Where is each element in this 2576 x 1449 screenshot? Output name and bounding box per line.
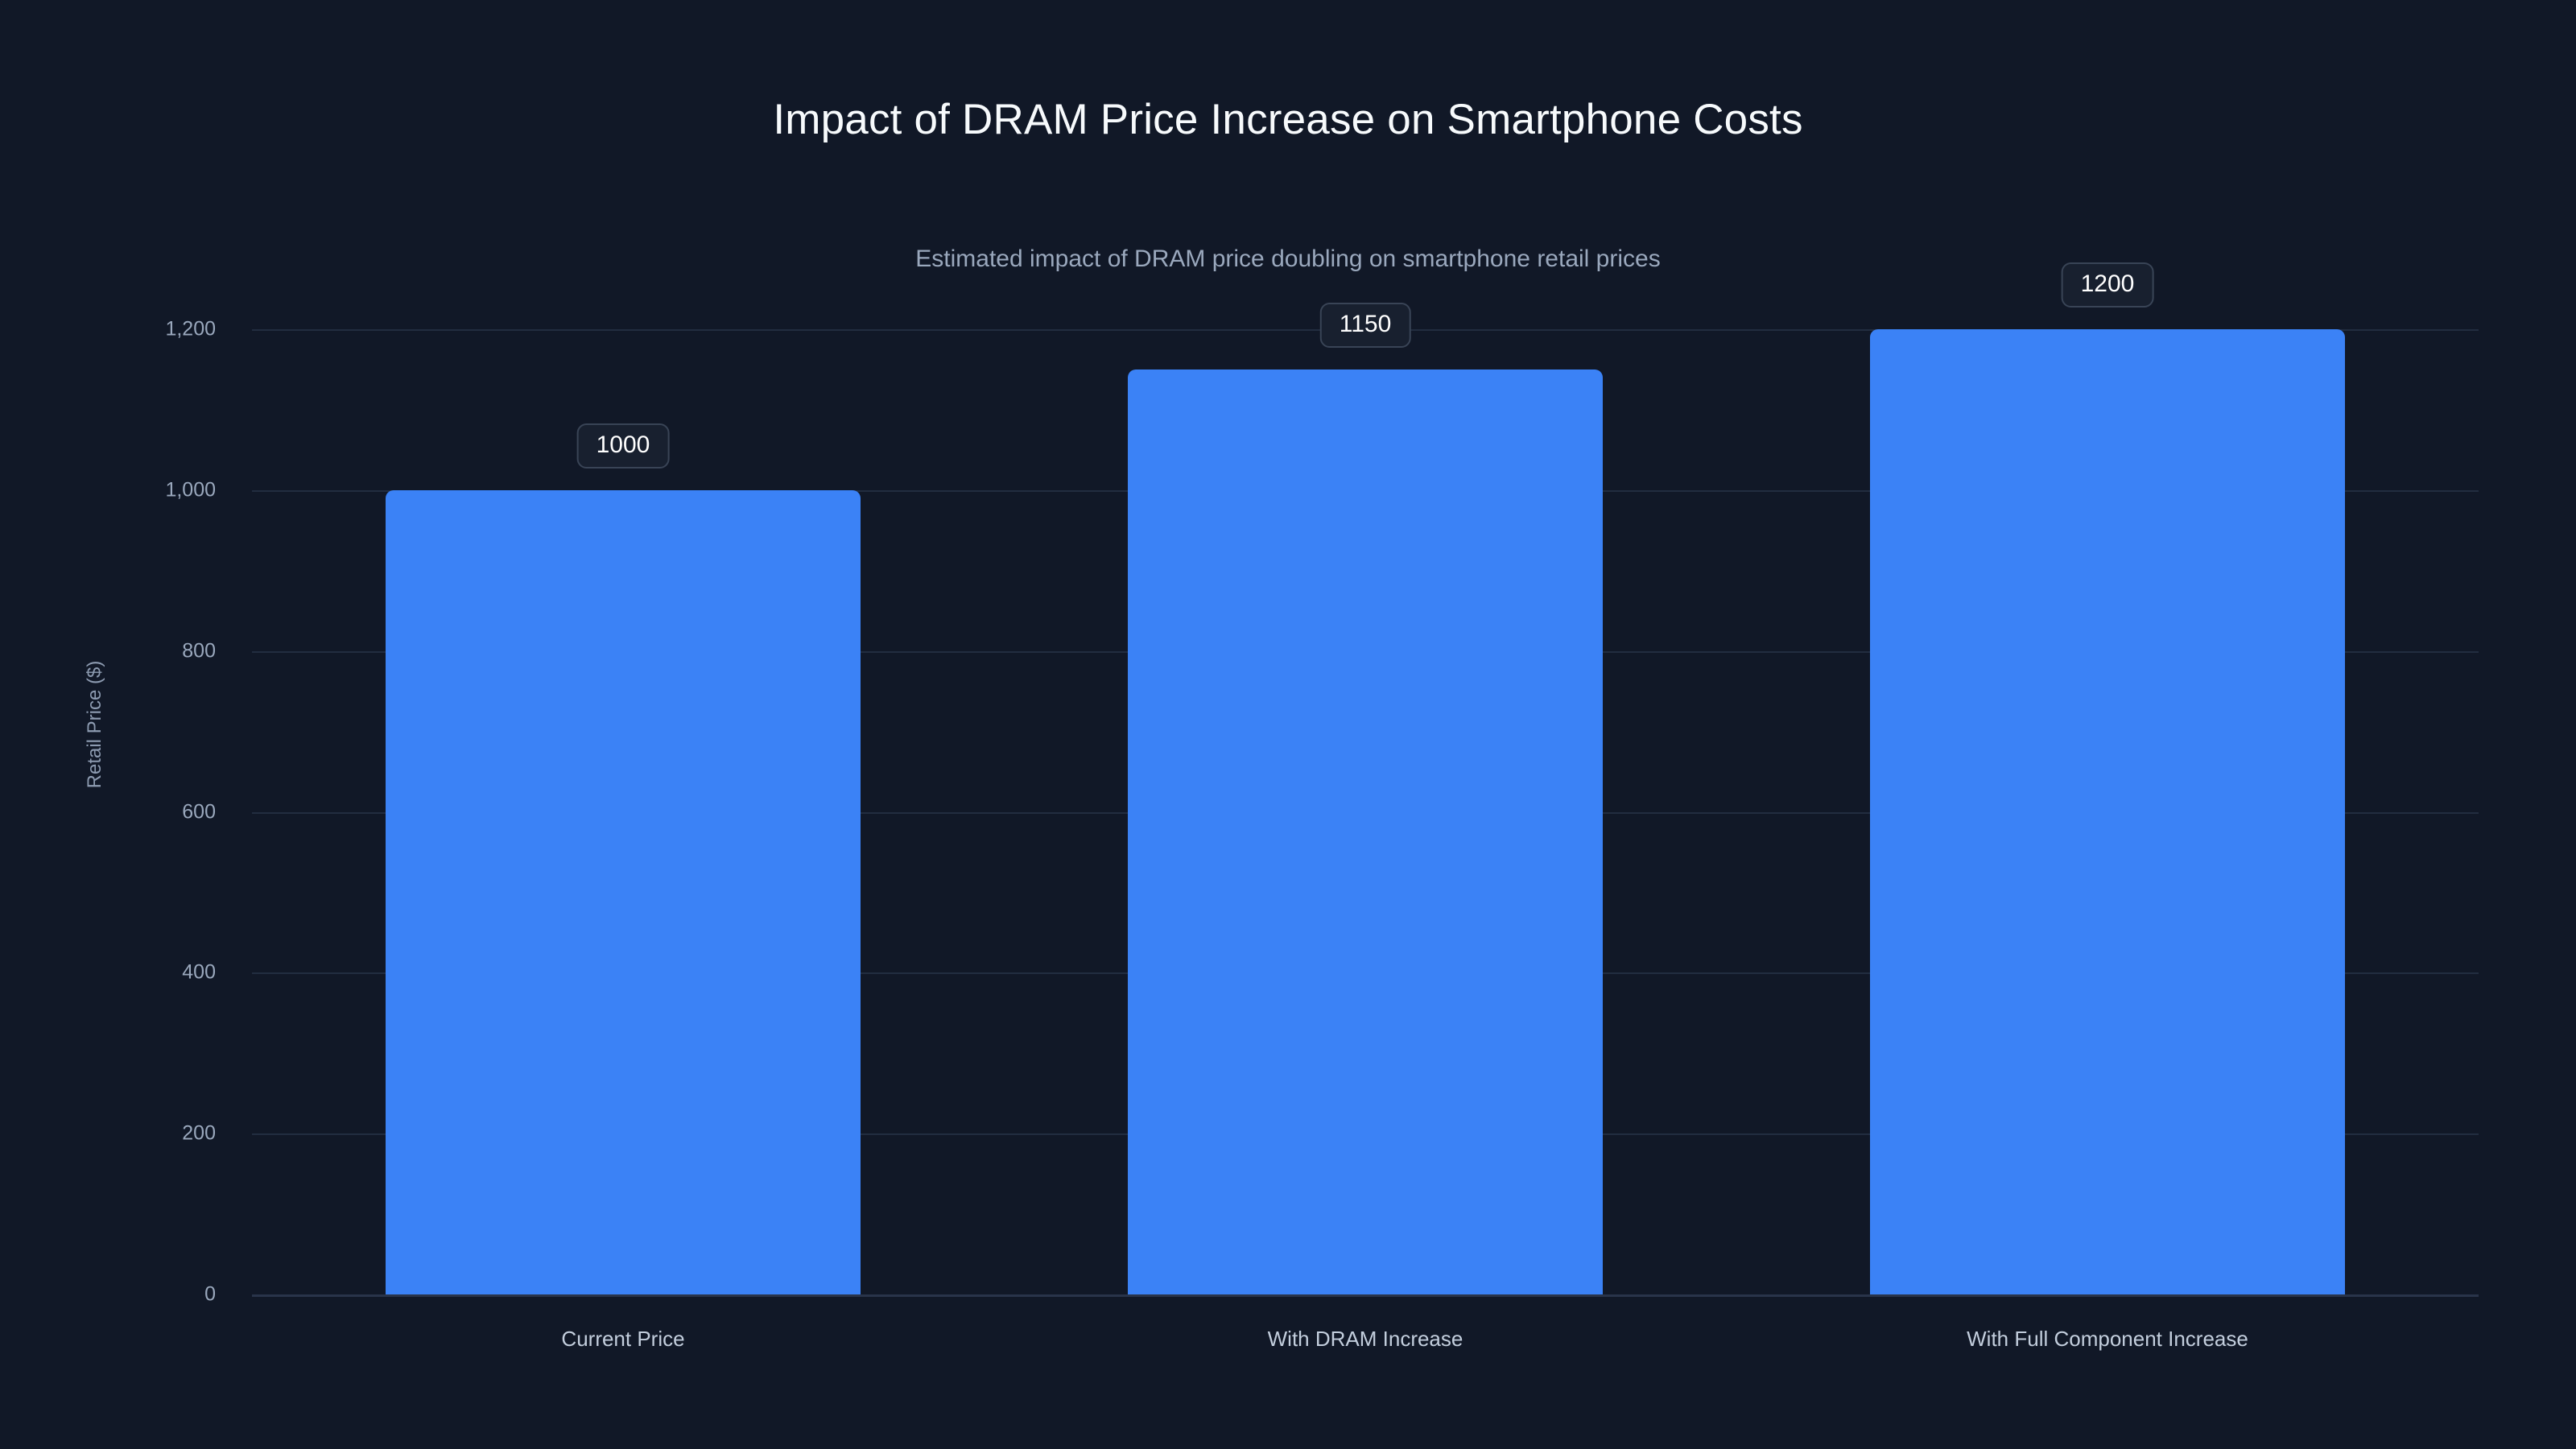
x-axis-line — [252, 1294, 2479, 1297]
x-tick-label: With DRAM Increase — [1268, 1327, 1463, 1352]
bar-value-label: 1150 — [1320, 303, 1411, 348]
y-tick-label: 400 — [182, 961, 216, 985]
bar[interactable] — [1128, 369, 1603, 1294]
x-tick-label: With Full Component Increase — [1967, 1327, 2248, 1352]
y-tick-label: 0 — [204, 1283, 216, 1307]
bar[interactable] — [1870, 329, 2345, 1294]
chart-subtitle: Estimated impact of DRAM price doubling … — [0, 246, 2576, 273]
y-axis-tick-labels: 02004006008001,0001,200 — [0, 329, 233, 1294]
bar[interactable] — [386, 490, 861, 1294]
x-tick-label: Current Price — [561, 1327, 684, 1352]
y-tick-label: 600 — [182, 800, 216, 824]
plot-area — [252, 329, 2479, 1294]
bar-value-label: 1000 — [577, 423, 670, 469]
y-tick-label: 800 — [182, 639, 216, 663]
bar-chart: Impact of DRAM Price Increase on Smartph… — [0, 0, 2576, 1449]
y-tick-label: 1,000 — [165, 478, 216, 502]
y-tick-label: 1,200 — [165, 318, 216, 341]
y-tick-label: 200 — [182, 1122, 216, 1146]
chart-title: Impact of DRAM Price Increase on Smartph… — [0, 95, 2576, 144]
bar-value-label: 1200 — [2062, 262, 2154, 308]
